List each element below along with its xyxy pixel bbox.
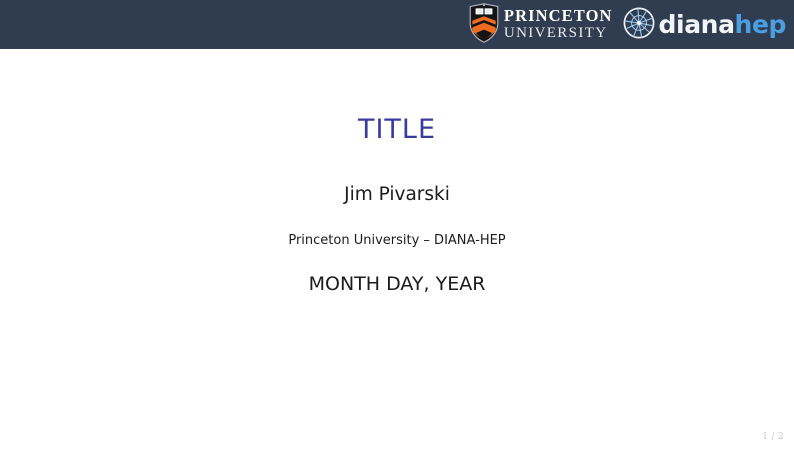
princeton-university-logo: PRINCETON UNIVERSITY	[469, 2, 613, 48]
diana-detector-icon	[622, 6, 656, 44]
page-number-indicator: 1 / 2	[762, 432, 784, 442]
diana-hep-logo: dianahep	[622, 2, 786, 48]
presentation-slide: PRINCETON UNIVERSITY	[0, 0, 794, 449]
princeton-wordmark-line1: PRINCETON	[504, 8, 613, 25]
diana-word-primary: diana	[659, 10, 735, 39]
diana-word-secondary: hep	[735, 10, 786, 39]
slide-header-bar: PRINCETON UNIVERSITY	[0, 0, 794, 49]
slide-title-block: TITLE Jim Pivarski Princeton University …	[0, 49, 794, 294]
slide-affiliation: Princeton University – DIANA-HEP	[0, 234, 794, 247]
princeton-wordmark: PRINCETON UNIVERSITY	[504, 8, 613, 41]
header-logo-group: PRINCETON UNIVERSITY	[469, 0, 786, 49]
princeton-shield-icon	[469, 3, 499, 47]
slide-author: Jim Pivarski	[0, 186, 794, 205]
diana-hep-wordmark: dianahep	[659, 12, 786, 37]
slide-title: TITLE	[0, 116, 794, 143]
princeton-wordmark-line2: UNIVERSITY	[504, 26, 613, 41]
slide-date: MONTH DAY, YEAR	[0, 275, 794, 294]
